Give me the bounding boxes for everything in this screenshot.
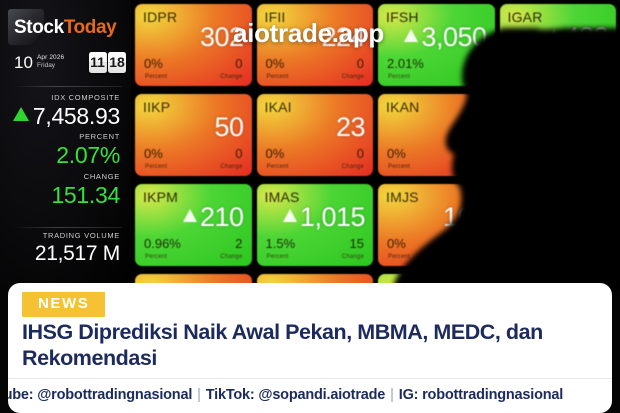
handle-separator: |	[385, 387, 399, 403]
ticker-change: 0	[357, 147, 364, 161]
ticker-symbol: IIKP	[143, 99, 170, 115]
ticker-symbol: IGAR	[508, 9, 543, 25]
percent-caption: Percent	[267, 254, 289, 260]
ticker-price: 3,050	[404, 22, 486, 52]
ticker-price: 161	[443, 202, 487, 232]
change-caption: Change	[342, 74, 364, 80]
ticker-change: 0	[357, 57, 364, 71]
ticker-row: IKPM 210 0.96% Percent 2 Change IMAS 1,0…	[131, 180, 620, 270]
percent-value: 2.07%	[56, 142, 120, 168]
ticker-tile[interactable]: IMJS 161 0% Percent 0 Change	[378, 184, 495, 266]
percent-caption: Percent	[388, 164, 410, 170]
change-caption: Change	[585, 164, 607, 170]
ticker-change: 0	[235, 57, 242, 71]
logo-secondary-text: Today	[64, 17, 117, 38]
index-sidebar: StockToday 10 Apr 2026 Friday 11 18 IDX …	[0, 0, 131, 285]
trading-volume-label: TRADING VOLUME	[35, 231, 120, 241]
trading-volume-block: TRADING VOLUME 21,517 M	[35, 231, 120, 267]
social-handles-marquee: Tube: @robottradingnasional|TikTok: @sop…	[8, 381, 612, 409]
sidebar-divider-bottom	[14, 227, 122, 228]
change-caption: Change	[220, 74, 242, 80]
percent-caption: Percent	[267, 164, 289, 170]
triangle-up-icon	[283, 209, 297, 222]
ticker-price-number: 3,050	[421, 22, 486, 52]
percent-caption: Percent	[145, 74, 167, 80]
ticker-tile[interactable]: IKAN 0% Percent	[378, 94, 495, 176]
stocktoday-logo: StockToday	[8, 9, 124, 45]
ticker-percent: 0%	[144, 57, 163, 71]
ticker-tile[interactable]: IFSH 3,050 2.01% Percent	[378, 4, 495, 86]
news-headline-line2: Rekomendasi	[22, 345, 612, 371]
ticker-row: IIKP 50 0% Percent 0 Change IKAI 23 0% P…	[131, 90, 620, 180]
percent-caption: Percent	[145, 254, 167, 260]
ticker-tile[interactable]: IIKP 50 0% Percent 0 Change	[135, 94, 252, 176]
broadcast-screen: StockToday 10 Apr 2026 Friday 11 18 IDX …	[0, 0, 620, 413]
ticker-change: 20	[593, 237, 607, 251]
change-block: CHANGE 151.34	[51, 172, 120, 208]
change-caption: Change	[220, 164, 242, 170]
ticker-price: 2,260	[543, 202, 608, 232]
ticker-change: 0	[235, 147, 242, 161]
news-headline-line1: IHSG Diprediksi Naik Awal Pekan, MBMA, M…	[22, 320, 543, 344]
ticker-tile[interactable]: 550 5 Change	[500, 94, 617, 176]
ticker-percent: 0%	[387, 147, 406, 161]
change-caption: Change	[463, 254, 485, 260]
ticker-symbol: IDPR	[143, 9, 177, 25]
watermark-text: aiotrade.app	[233, 18, 384, 49]
ticker-percent: 0.96%	[144, 237, 181, 251]
idx-composite-block: IDX COMPOSITE 7,458.93	[13, 93, 120, 129]
news-headline: IHSG Diprediksi Naik Awal Pekan, MBMA, M…	[22, 319, 612, 371]
date-time-row: 10 Apr 2026 Friday 11 18	[14, 52, 126, 76]
idx-composite-value: 7,458.93	[33, 103, 120, 129]
percent-caption: Percent	[145, 164, 167, 170]
ticker-change: 0	[478, 237, 485, 251]
news-badge: NEWS	[22, 292, 105, 317]
ticker-tile[interactable]: IGAR 482 2 Change	[500, 4, 617, 86]
idx-composite-value-row: 7,458.93	[13, 103, 120, 129]
ticker-change: 2	[235, 237, 242, 251]
news-card: NEWS IHSG Diprediksi Naik Awal Pekan, MB…	[8, 283, 612, 413]
trading-volume-value: 21,517 M	[35, 241, 120, 267]
ticker-price-number: 482	[564, 22, 608, 52]
ticker-tile[interactable]: IKAI 23 0% Percent 0 Change	[257, 94, 374, 176]
percent-caption: Percent	[388, 74, 410, 80]
clock-hours: 11	[89, 52, 107, 73]
clock-minutes: 18	[108, 52, 126, 73]
percent-label: PERCENT	[56, 132, 120, 142]
idx-composite-label: IDX COMPOSITE	[13, 93, 120, 103]
change-caption: Change	[342, 164, 364, 170]
ticker-change: 5	[600, 147, 607, 161]
ticker-symbol: IMJS	[386, 189, 419, 205]
triangle-up-icon	[183, 209, 197, 222]
ticker-tile[interactable]: IMAS 1,015 1.5% Percent 15 Change	[257, 184, 374, 266]
ticker-percent: 0%	[387, 237, 406, 251]
ticker-price-number: 1,015	[300, 202, 365, 232]
ticker-price-number: 210	[200, 202, 244, 232]
ticker-percent: 2.01%	[387, 57, 424, 71]
change-caption: Change	[342, 254, 364, 260]
date-month-year: Apr 2026	[37, 54, 64, 62]
triangle-up-icon	[404, 29, 418, 42]
ticker-change: 2	[600, 57, 607, 71]
ticker-tile[interactable]: IKPM 210 0.96% Percent 2 Change	[135, 184, 252, 266]
ticker-symbol: IKAI	[265, 99, 292, 115]
ticker-percent: 0%	[266, 147, 285, 161]
date-day: 10	[14, 53, 33, 73]
clock-widget: 11 18	[89, 52, 127, 73]
ticker-percent: 1.5%	[266, 237, 296, 251]
tiktok-handle: TikTok: @sopandi.aiotrade	[206, 387, 385, 403]
ticker-price: 550	[564, 112, 608, 142]
handle-separator: |	[192, 387, 206, 403]
ticker-percent: 0%	[144, 147, 163, 161]
ticker-percent: 0%	[266, 57, 285, 71]
ticker-symbol: IKPM	[143, 189, 178, 205]
ticker-price: 1,015	[283, 202, 365, 232]
change-caption: Change	[220, 254, 242, 260]
news-divider	[8, 378, 612, 379]
date-weekday: Friday	[37, 62, 55, 70]
ticker-tile[interactable]: 2,260 20 Change	[500, 184, 617, 266]
triangle-up-icon	[547, 29, 561, 42]
change-caption: Change	[585, 74, 607, 80]
ticker-symbol: IKAN	[386, 99, 419, 115]
triangle-up-icon	[13, 107, 29, 121]
instagram-handle: IG: robottradingnasional	[399, 387, 563, 403]
percent-caption: Percent	[267, 74, 289, 80]
percent-caption: Percent	[388, 254, 410, 260]
change-value: 151.34	[51, 182, 120, 208]
ticker-price: 210	[183, 202, 244, 232]
sidebar-divider-top	[14, 86, 122, 87]
youtube-handle: Tube: @robottradingnasional	[8, 387, 192, 403]
logo-primary-text: Stock	[14, 17, 64, 38]
ticker-price: 23	[336, 112, 365, 142]
ticker-price: 482	[547, 22, 608, 52]
change-label: CHANGE	[51, 172, 120, 182]
logo-text: StockToday	[14, 18, 116, 37]
ticker-change: 15	[350, 237, 364, 251]
change-caption: Change	[585, 254, 607, 260]
ticker-price: 50	[214, 112, 243, 142]
percent-block: PERCENT 2.07%	[56, 132, 120, 168]
